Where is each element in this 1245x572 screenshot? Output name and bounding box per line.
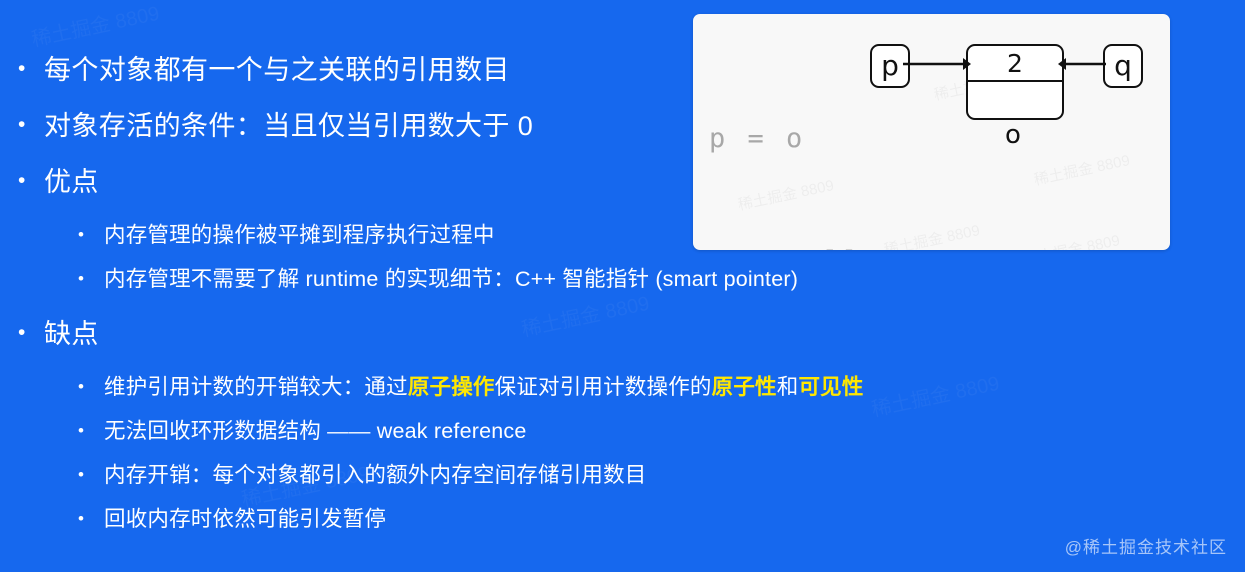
bullet-marker-icon: • <box>78 506 104 532</box>
bullet-text: 每个对象都有一个与之关联的引用数目 <box>44 54 510 86</box>
arrow-right-icon <box>903 55 971 75</box>
variable-label: q <box>1114 52 1132 80</box>
footer-watermark: @稀土掘金技术社区 <box>1065 533 1227 558</box>
code-sequence-list: p = o q = null q = p q = null p = null <box>709 36 863 250</box>
refcount-value: 2 <box>968 46 1062 82</box>
bullet-marker-icon: • <box>78 462 104 488</box>
background-watermark: 稀土掘金 8809 <box>28 0 161 52</box>
variable-label: p <box>881 52 899 80</box>
bullet-text: 优点 <box>44 166 99 198</box>
bullet-text: 内存管理不需要了解 runtime 的实现细节：C++ 智能指针 (smart … <box>104 266 798 292</box>
bullet-text: 内存开销：每个对象都引入的额外内存空间存储引用数目 <box>104 462 647 488</box>
code-line: p = o <box>709 118 863 159</box>
plain-term: 和 <box>777 375 799 399</box>
bullet-marker-icon: • <box>18 54 44 84</box>
bullet-text: 回收内存时依然可能引发暂停 <box>104 506 386 532</box>
bullet-item-level1-disadvantages: • 缺点 <box>0 318 960 350</box>
bullet-marker-icon: • <box>78 222 104 248</box>
bullet-marker-icon: • <box>78 418 104 444</box>
bullet-item-level2-atomic: • 维护引用计数的开销较大：通过原子操作保证对引用计数操作的原子性和可见性 <box>0 374 960 400</box>
object-name-label: o <box>966 120 1060 150</box>
bullet-item-level2: • 无法回收环形数据结构 —— weak reference <box>0 418 960 444</box>
bullet-marker-icon: • <box>18 166 44 196</box>
code-line: q = null <box>709 241 863 250</box>
panel-watermark: 稀土掘金 8809 <box>882 219 982 250</box>
bullet-text: 内存管理的操作被平摊到程序执行过程中 <box>104 222 495 248</box>
bullet-marker-icon: • <box>78 266 104 292</box>
arrow-left-icon <box>1058 55 1106 75</box>
bullet-text-rich: 维护引用计数的开销较大：通过原子操作保证对引用计数操作的原子性和可见性 <box>104 374 864 400</box>
highlighted-term: 原子性 <box>712 375 777 399</box>
reference-count-diagram: p q 2 o <box>843 22 1163 192</box>
variable-box-q: q <box>1103 44 1143 88</box>
bullet-text: 无法回收环形数据结构 —— weak reference <box>104 418 527 444</box>
bullet-marker-icon: • <box>78 374 104 400</box>
plain-term: 保证对引用计数操作的 <box>495 375 712 399</box>
bullet-marker-icon: • <box>18 318 44 348</box>
bullet-item-level2: • 内存开销：每个对象都引入的额外内存空间存储引用数目 <box>0 462 960 488</box>
bullet-item-level2: • 回收内存时依然可能引发暂停 <box>0 506 960 532</box>
bullet-marker-icon: • <box>18 110 44 140</box>
object-box: 2 <box>966 44 1064 120</box>
highlighted-term: 原子操作 <box>408 375 495 399</box>
bullet-item-level2: • 内存管理不需要了解 runtime 的实现细节：C++ 智能指针 (smar… <box>0 266 960 292</box>
bullet-text: 缺点 <box>44 318 99 350</box>
slide-canvas: 稀土掘金 8809 稀土掘金 8809 稀土掘金 8809 稀土掘金 8809 … <box>0 0 1245 572</box>
bullet-text: 对象存活的条件：当且仅当引用数大于 0 <box>44 110 533 142</box>
diagram-panel: 稀土掘金 8809 稀土掘金 8809 稀土掘金 8809 稀土掘金 8809 … <box>693 14 1170 250</box>
plain-term: 维护引用计数的开销较大：通过 <box>104 375 408 399</box>
highlighted-term: 可见性 <box>798 375 863 399</box>
panel-watermark: 稀土掘金 8809 <box>1022 229 1122 250</box>
